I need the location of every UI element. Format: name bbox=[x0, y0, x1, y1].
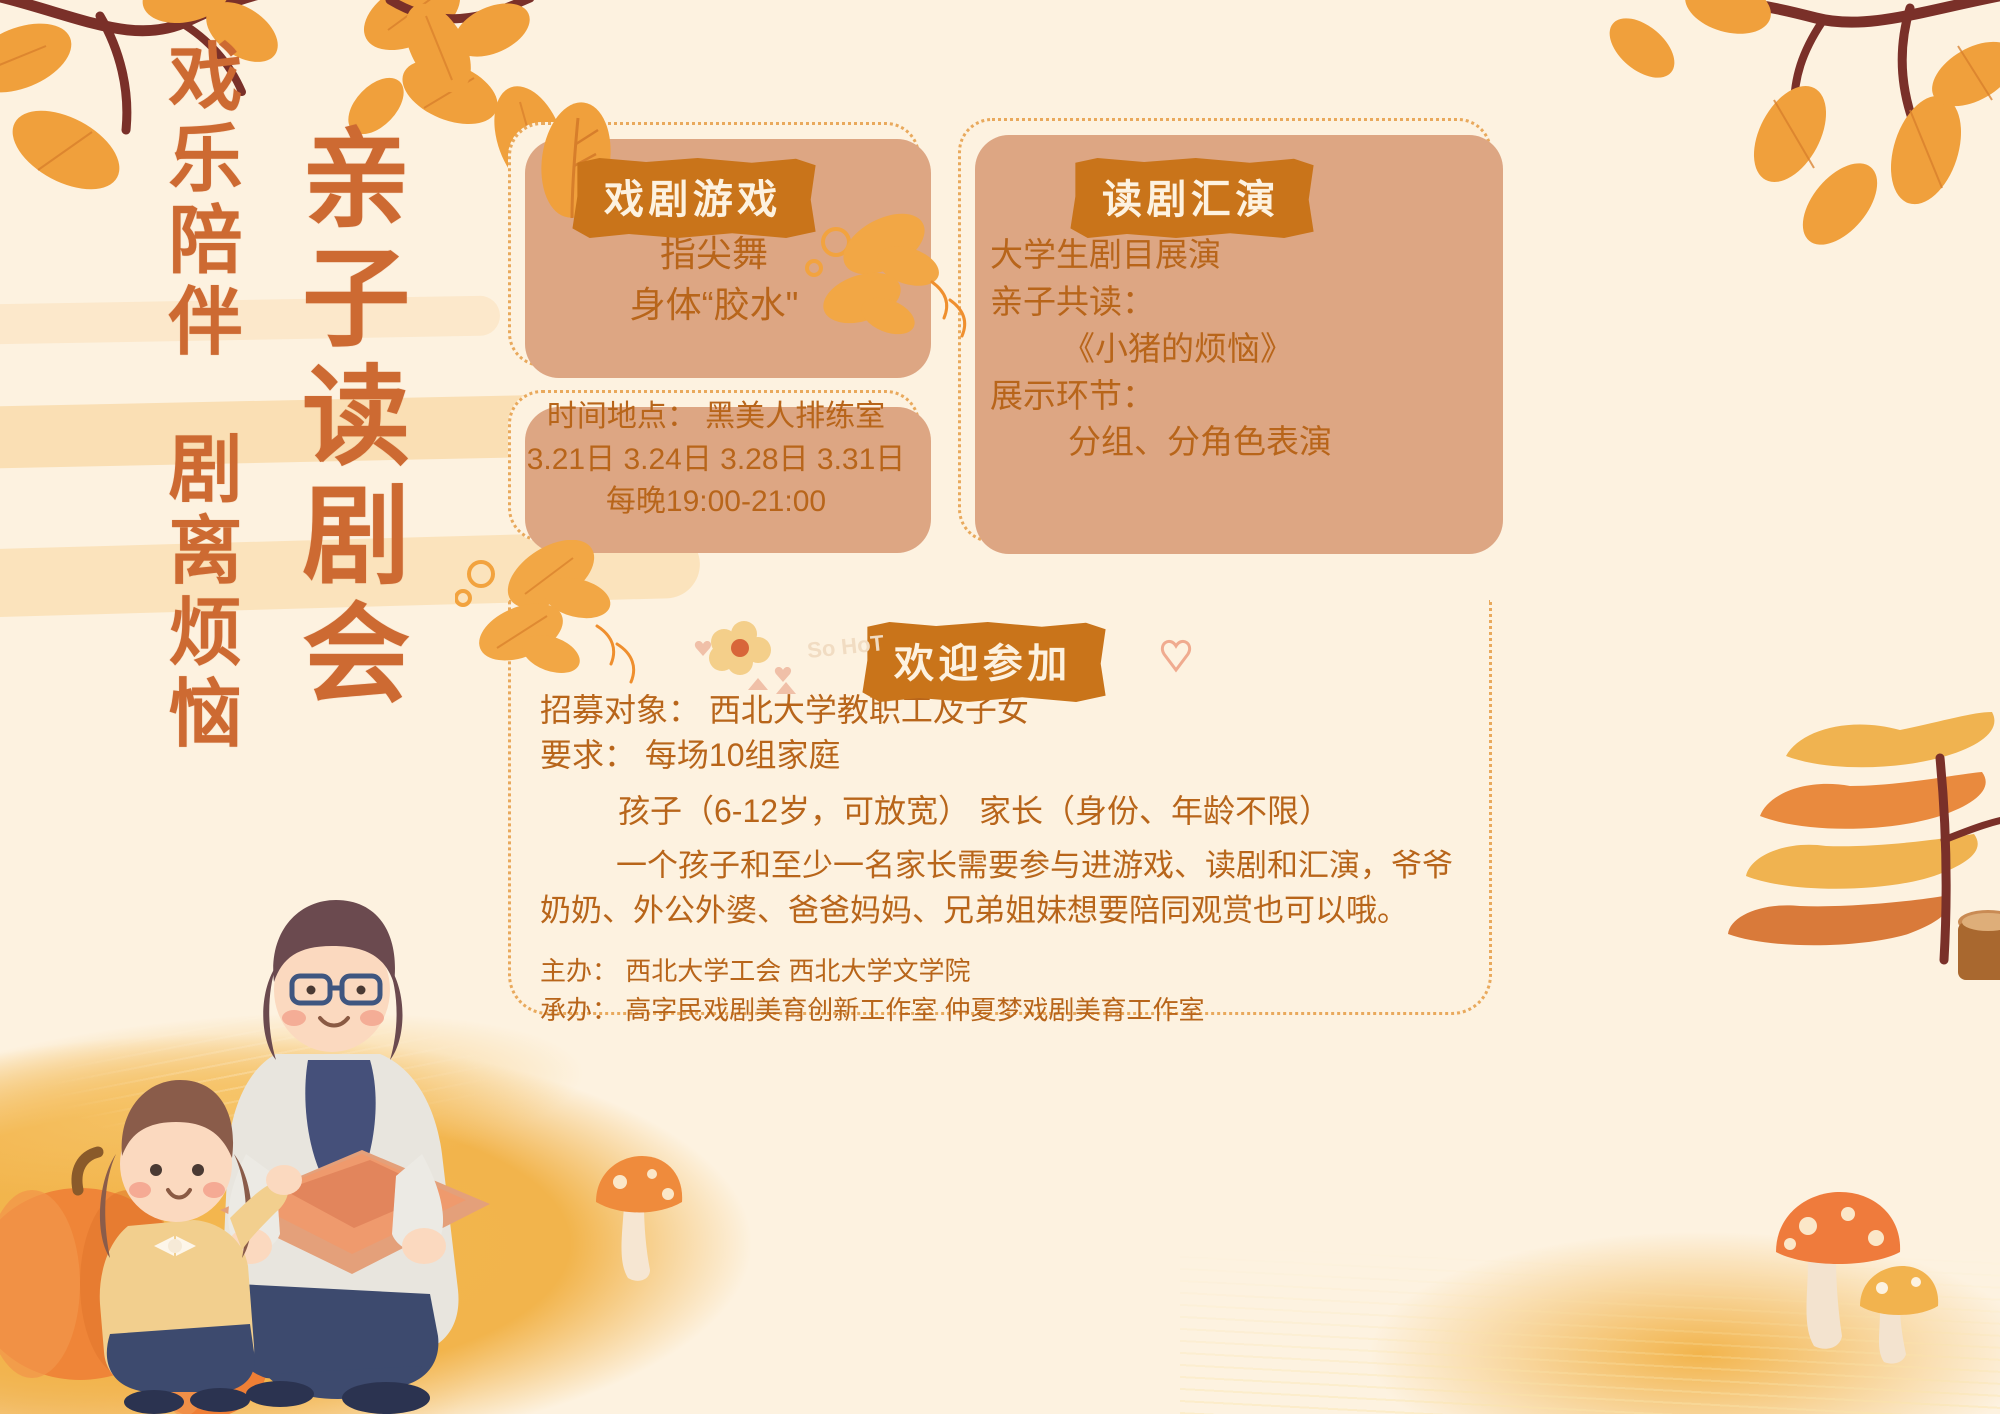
read-line-5: 分组、分角色表演 bbox=[990, 419, 1490, 466]
games-line-2: 身体“胶水" bbox=[508, 279, 920, 330]
games-line-1: 指尖舞 bbox=[508, 228, 920, 279]
time-place-body: 时间地点： 黑美人排练室 3.21日 3.24日 3.28日 3.31日 每晚1… bbox=[524, 396, 908, 524]
reading-card-heading-ribbon: 读剧汇演 bbox=[1068, 158, 1314, 238]
poster-title-block: 戏乐陪伴 bbox=[160, 38, 237, 364]
background-brush-top bbox=[0, 295, 500, 344]
games-card-body: 指尖舞 身体“胶水" bbox=[508, 228, 920, 330]
join-card-heading-ribbon: 欢迎参加 bbox=[860, 622, 1106, 702]
poster-subtitle-col-1: 戏乐陪伴 bbox=[160, 38, 237, 364]
reading-card-heading: 读剧汇演 bbox=[1102, 167, 1280, 225]
games-card-heading-ribbon: 戏剧游戏 bbox=[570, 158, 816, 238]
games-card-heading: 戏剧游戏 bbox=[604, 167, 782, 225]
poster-main-title: 亲子读剧会 bbox=[292, 122, 402, 716]
join-line-requirement: 要求： 每场10组家庭 bbox=[540, 733, 1470, 778]
mother-and-child-illustration bbox=[70, 854, 590, 1414]
autumn-tree-decoration bbox=[1600, 660, 2000, 1040]
reading-card-body: 大学生剧目展演 亲子共读： 《小猪的烦恼》 展示环节： 分组、分角色表演 bbox=[990, 232, 1490, 466]
read-line-2: 亲子共读： bbox=[990, 279, 1490, 326]
join-organizer: 主办： 西北大学工会 西北大学文学院 bbox=[540, 952, 1470, 991]
read-line-4: 展示环节： bbox=[990, 373, 1490, 420]
read-line-1: 大学生剧目展演 bbox=[990, 232, 1490, 279]
join-card-body: 招募对象： 西北大学教职工及子女 要求： 每场10组家庭 孩子（6-12岁，可放… bbox=[540, 688, 1470, 1030]
poster-canvas: 戏剧游戏 指尖舞 身体“胶水" 时间地点： 黑美人排练室 3.21日 3.24日… bbox=[0, 0, 2000, 1414]
join-line-ages: 孩子（6-12岁，可放宽） 家长（身份、年龄不限） bbox=[540, 789, 1470, 834]
time-line-location: 时间地点： 黑美人排练室 bbox=[524, 396, 908, 439]
grass-texture bbox=[1180, 1224, 2000, 1414]
poster-subtitle-col-2: 剧离烦恼 bbox=[160, 430, 237, 756]
time-line-dates: 3.21日 3.24日 3.28日 3.31日 bbox=[524, 439, 908, 482]
time-line-hours: 每晚19:00-21:00 bbox=[524, 481, 908, 524]
join-card-heading: 欢迎参加 bbox=[894, 631, 1072, 689]
join-paragraph: 一个孩子和至少一名家长需要参与进游戏、读剧和汇演，爷爷奶奶、外公外婆、爸爸妈妈、… bbox=[540, 844, 1470, 934]
join-executor: 承办： 高字民戏剧美育创新工作室 仲夏梦戏剧美育工作室 bbox=[540, 991, 1470, 1030]
read-line-3: 《小猪的烦恼》 bbox=[990, 326, 1490, 373]
